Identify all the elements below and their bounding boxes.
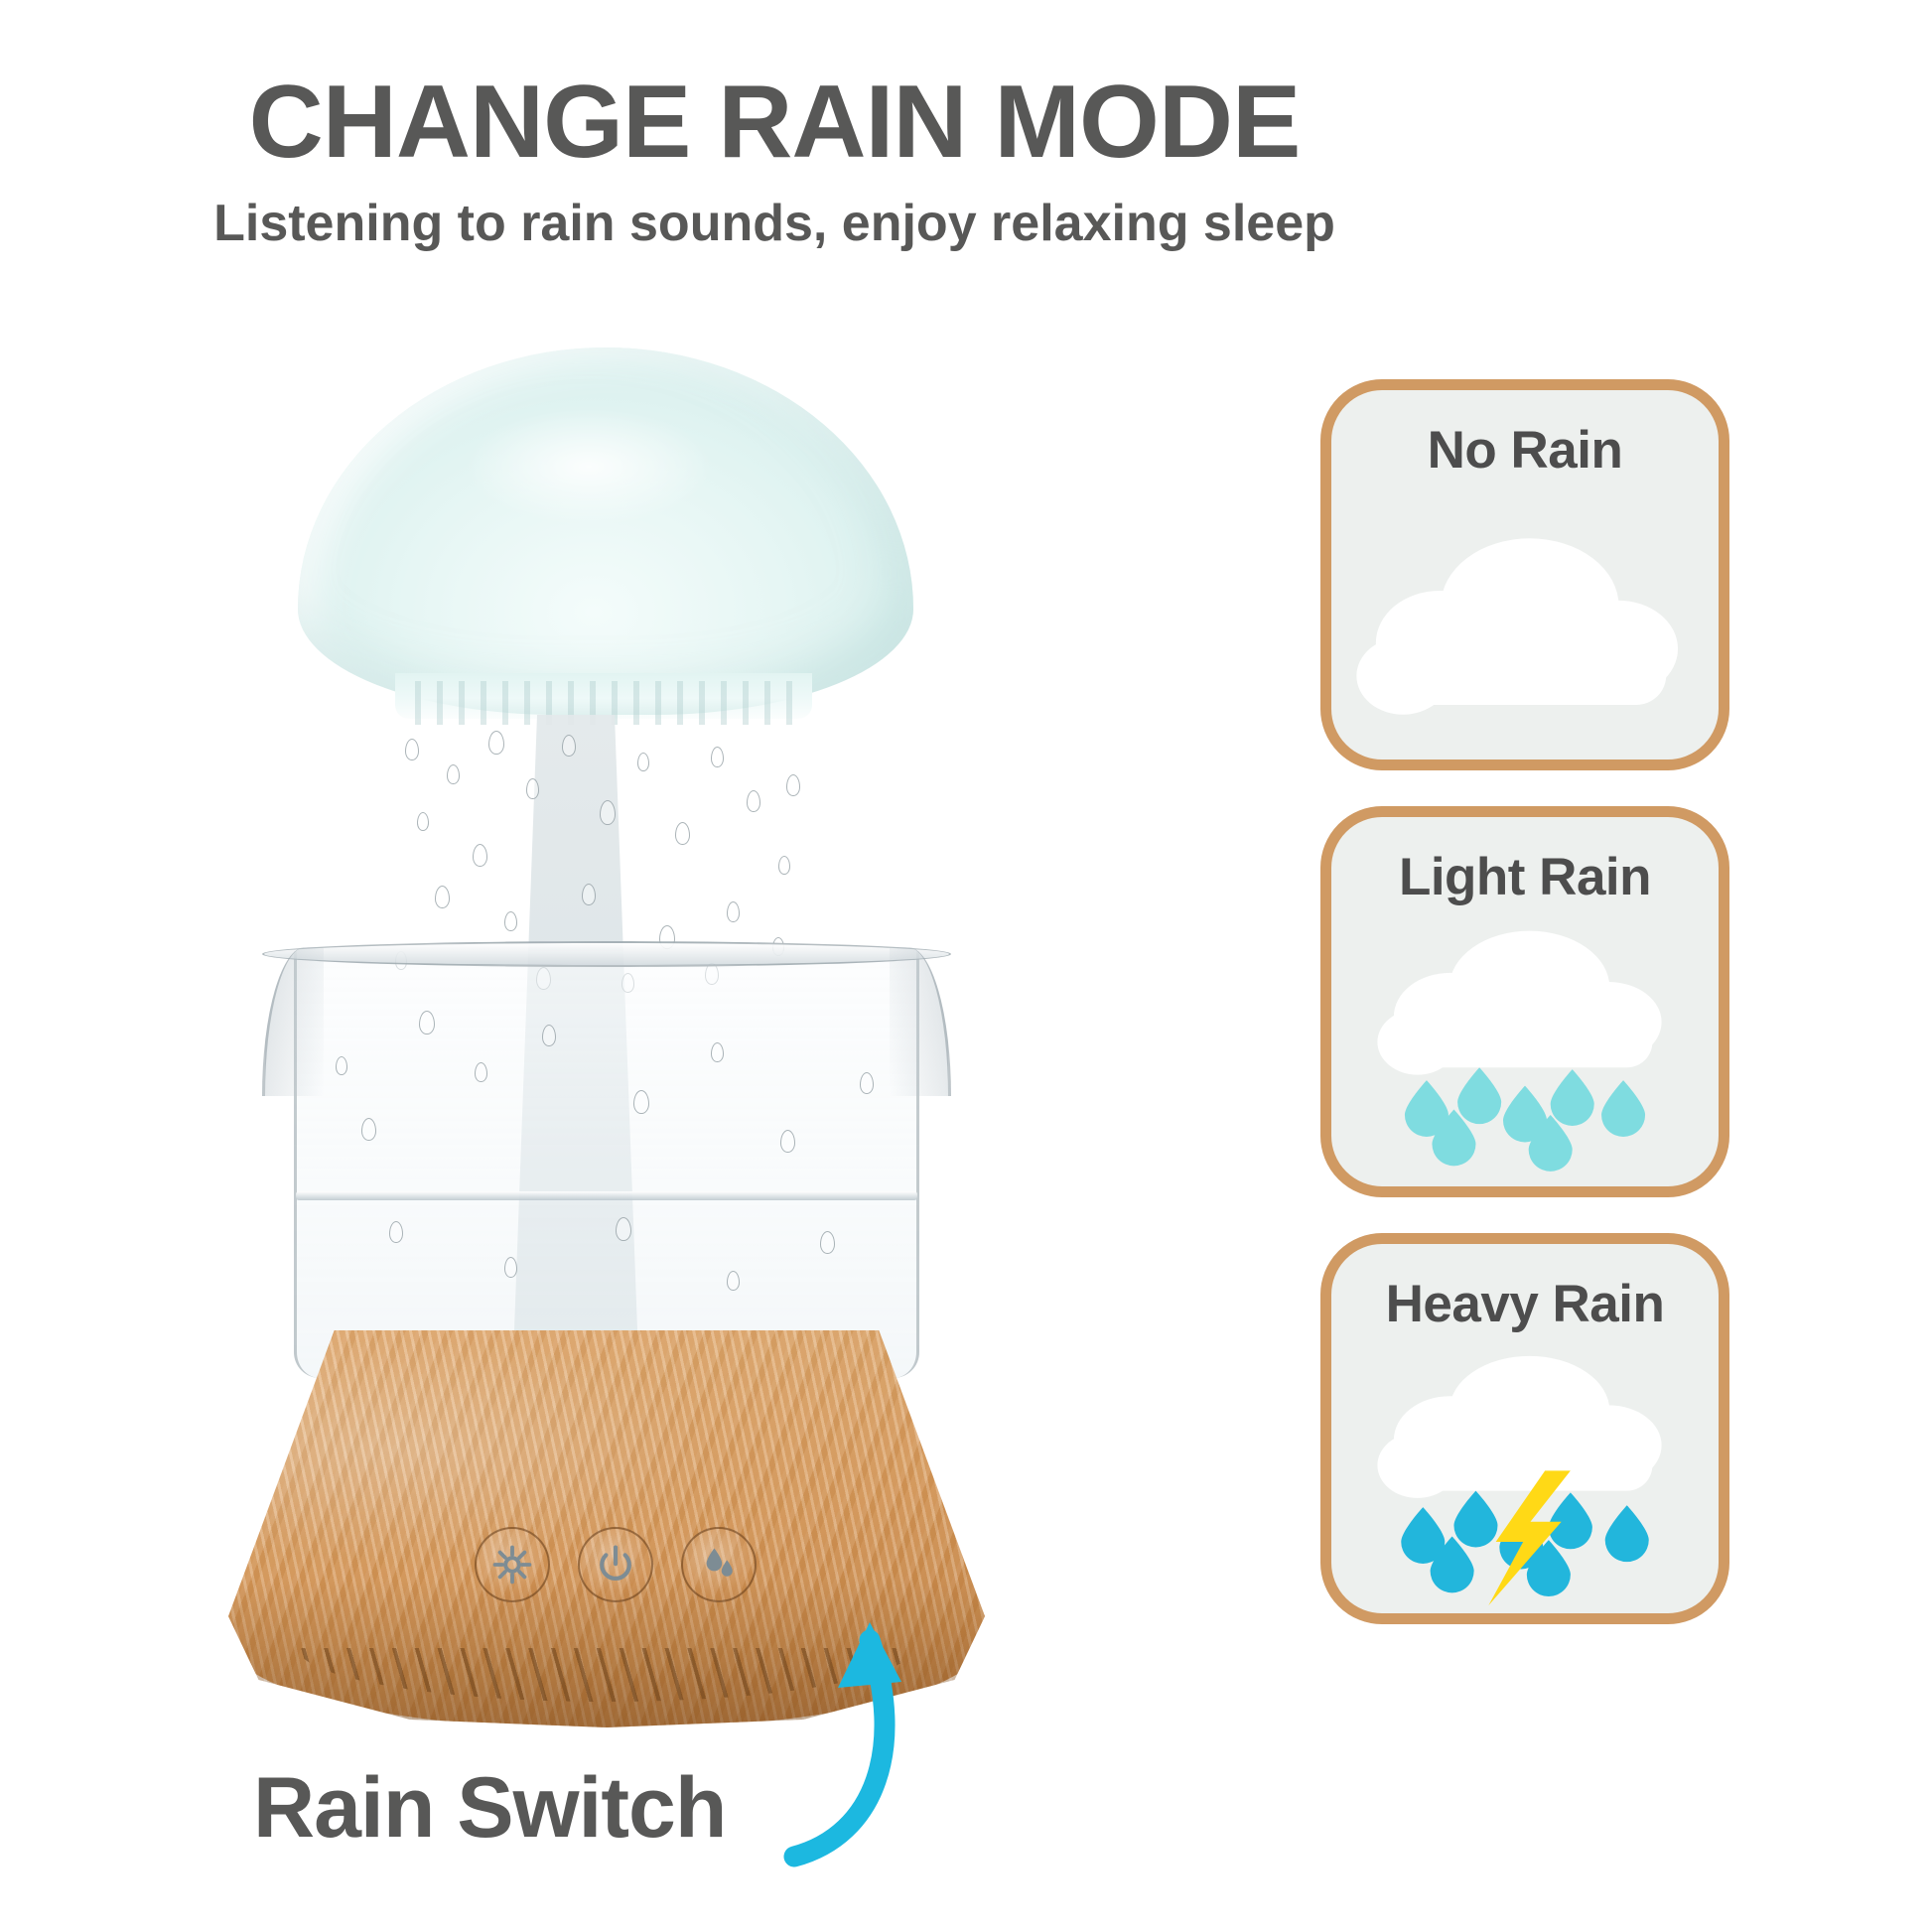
- glass-body: [294, 951, 919, 1378]
- rain-mode-card-list: No Rain Light Rain: [1320, 379, 1729, 1660]
- cap-highlight: [465, 407, 713, 526]
- glass-flare-right: [890, 947, 951, 1096]
- header: CHANGE RAIN MODE Listening to rain sound…: [0, 69, 1549, 251]
- cloud-lightning-rain-icon: [1331, 1343, 1719, 1607]
- mode-card-title: Heavy Rain: [1331, 1274, 1719, 1334]
- water-tank-glass: [244, 923, 969, 1380]
- glass-rim: [262, 941, 951, 967]
- glass-flare-left: [262, 947, 324, 1096]
- water-level-line: [296, 1191, 917, 1200]
- cloud-icon: [1331, 501, 1719, 754]
- infographic-page: CHANGE RAIN MODE Listening to rain sound…: [0, 0, 1932, 1932]
- light-button[interactable]: [475, 1527, 550, 1602]
- page-subtitle: Listening to rain sounds, enjoy relaxing…: [0, 197, 1549, 251]
- mode-card-title: No Rain: [1331, 420, 1719, 481]
- rain-switch-label: Rain Switch: [253, 1759, 726, 1858]
- raindrop-group: [1405, 1067, 1645, 1172]
- product-image: [228, 328, 983, 1718]
- page-title: CHANGE RAIN MODE: [0, 69, 1549, 175]
- cloud-rain-icon: [1331, 916, 1719, 1180]
- mode-card-light-rain[interactable]: Light Rain: [1320, 806, 1729, 1197]
- mode-card-no-rain[interactable]: No Rain: [1320, 379, 1729, 770]
- mode-card-title: Light Rain: [1331, 847, 1719, 907]
- mode-card-heavy-rain[interactable]: Heavy Rain: [1320, 1233, 1729, 1624]
- mushroom-cloud-cap: [298, 347, 913, 715]
- sun-brightness-icon: [490, 1543, 534, 1587]
